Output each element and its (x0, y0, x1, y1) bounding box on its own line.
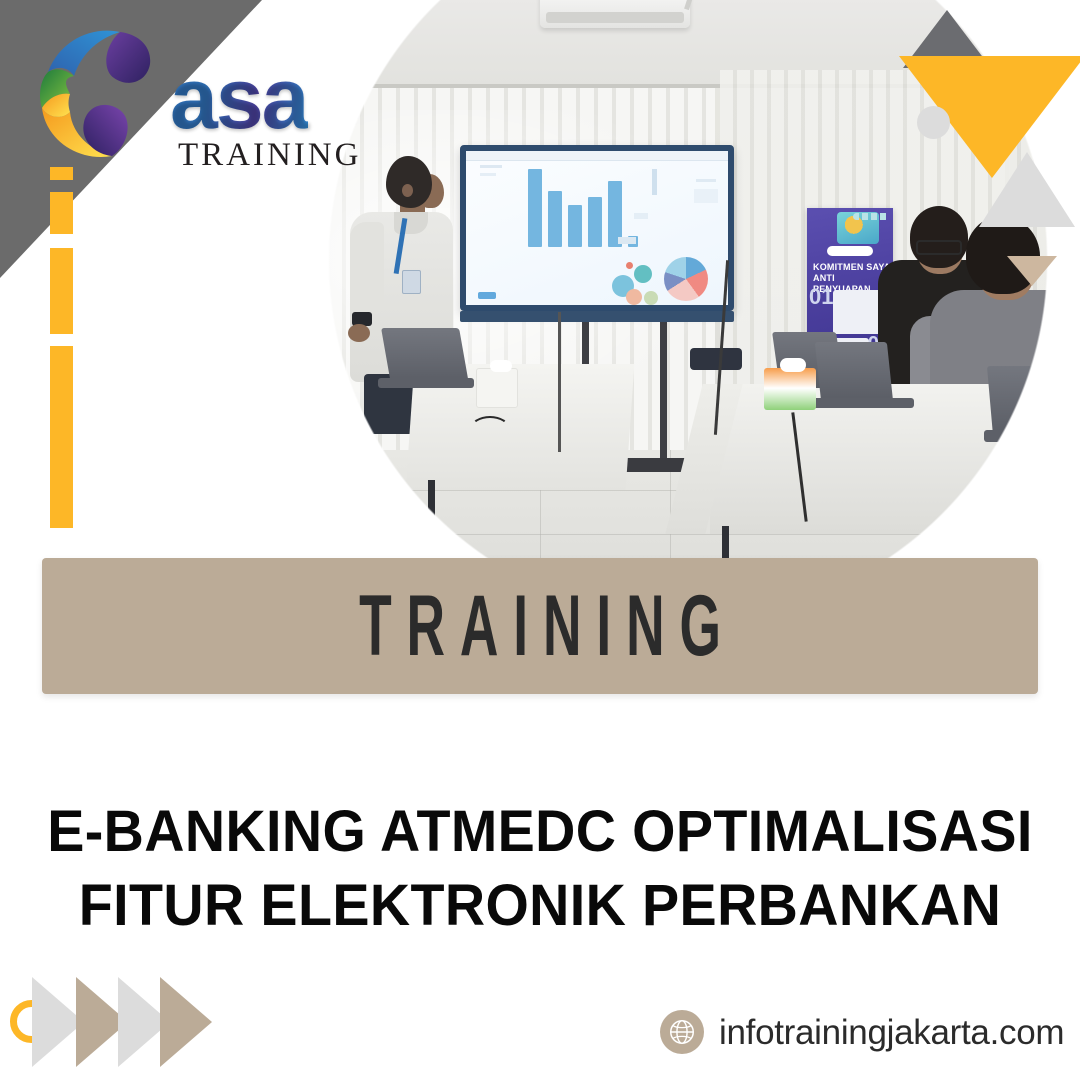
laptop-3-screen (987, 366, 1080, 436)
triangle-up-light-icon (979, 152, 1075, 227)
laptop-3-base (984, 430, 1080, 442)
page-title-line1: E-BANKING ATMEDC OPTIMALISASI (22, 795, 1059, 869)
laptop-front-base (378, 378, 474, 388)
website-url: infotrainingjakarta.com (719, 1015, 1064, 1050)
globe-icon (660, 1010, 704, 1054)
banner-headline-line1: KOMITMEN SAYA (813, 262, 890, 272)
training-banner-label: TRAINING (231, 558, 849, 694)
dash-2 (50, 192, 73, 234)
presenter-badge (402, 270, 421, 294)
poster-canvas: KOMITMEN SAYA ANTI PENYUAPAN 01 02 (0, 0, 1080, 1080)
participant-1-glasses (916, 240, 962, 255)
brand-logo[interactable]: asa TRAINING (30, 26, 350, 171)
training-banner: TRAINING (42, 558, 1038, 694)
triangle-down-tan-icon (1007, 256, 1057, 286)
banner-number-01: 01 (809, 286, 833, 308)
laptop-2-base (810, 398, 914, 408)
cable-loop (470, 416, 510, 442)
chevron-4-icon (160, 977, 212, 1067)
bag-on-table (690, 348, 742, 370)
tissue-sheet-table (780, 358, 806, 372)
dash-3 (50, 248, 73, 334)
tissue-box-table (764, 368, 816, 410)
interactive-display (460, 145, 734, 311)
logo-tagline: TRAINING (178, 139, 361, 172)
presenter-sleeve (350, 222, 384, 314)
banner-dots (853, 213, 889, 220)
laptop-2-screen (815, 342, 893, 402)
laptop-front-screen (381, 328, 469, 384)
dash-4 (50, 346, 73, 528)
asa-circular-swirl-logo-icon (30, 26, 182, 171)
participant-1-head (910, 206, 968, 268)
presenter-ear (402, 184, 413, 197)
website-footer[interactable]: infotrainingjakarta.com (660, 1010, 1064, 1054)
page-title: E-BANKING ATMEDC OPTIMALISASI FITUR ELEK… (22, 795, 1059, 943)
circle-gray-icon (917, 106, 950, 139)
display-stand-right (660, 305, 667, 465)
page-title-line2: FITUR ELEKTRONIK PERBANKAN (22, 869, 1059, 943)
presenter-collar (394, 212, 428, 234)
tissue-box-front (476, 368, 518, 408)
air-conditioner (540, 0, 690, 28)
presenter-hand (348, 324, 370, 342)
tissue-sheet-front (490, 360, 512, 372)
presenter-head (386, 156, 432, 208)
banner-logo (827, 246, 873, 256)
phone-on-table (1026, 444, 1080, 462)
display-cable (558, 312, 561, 452)
logo-wordmark: asa (170, 56, 308, 142)
